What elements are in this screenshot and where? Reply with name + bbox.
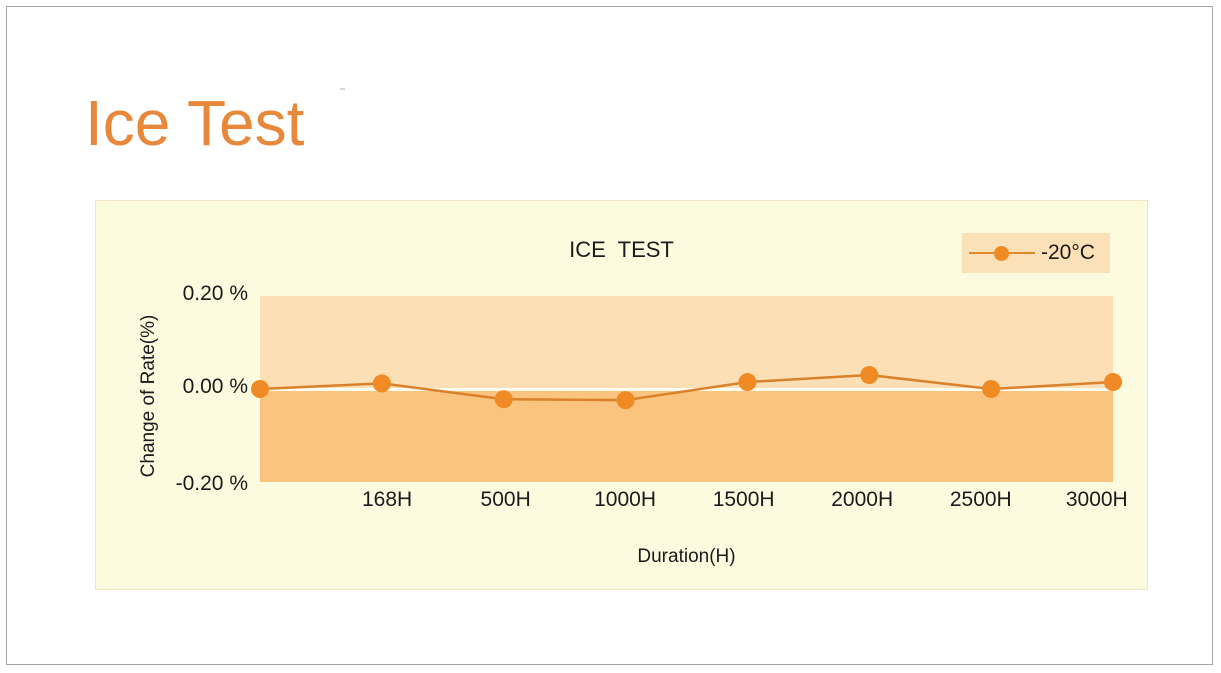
y-axis-title: Change of Rate(%) (138, 281, 160, 511)
x-axis-tick-168h: 168H (362, 488, 412, 512)
data-point (373, 374, 391, 392)
x-axis-title: Duration(H) (260, 546, 1113, 568)
x-axis-tick-2500h: 2500H (950, 488, 1012, 512)
legend-marker-icon (969, 243, 1035, 263)
data-point (617, 391, 635, 409)
x-axis-tick-1000h: 1000H (594, 488, 656, 512)
data-point (1104, 373, 1122, 391)
y-axis-tick-2: -0.20 % (176, 472, 248, 496)
y-axis-tick-1: 0.00 % (183, 375, 248, 399)
data-point (982, 380, 1000, 398)
slide: Ice Test ICE TEST -20°C Change of Rate(%… (6, 6, 1213, 665)
x-axis-tick-1500h: 1500H (713, 488, 775, 512)
decorative-speck (340, 88, 345, 90)
plot-area: 0.20 % 0.00 % -0.20 % 168H 500H 1000H 15… (260, 296, 1113, 482)
data-point (738, 373, 756, 391)
data-point (860, 366, 878, 384)
data-point (251, 380, 269, 398)
series-line--20c (260, 296, 1113, 482)
page-title: Ice Test (85, 85, 304, 161)
x-axis-tick-2000h: 2000H (831, 488, 893, 512)
x-axis-tick-500h: 500H (481, 488, 531, 512)
legend-label-series-0: -20°C (1041, 241, 1095, 265)
chart-panel: ICE TEST -20°C Change of Rate(%) 0.20 % … (95, 200, 1148, 590)
data-point (495, 390, 513, 408)
x-axis-tick-3000h: 3000H (1066, 488, 1128, 512)
chart-legend: -20°C (962, 233, 1110, 273)
y-axis-tick-0: 0.20 % (183, 282, 248, 306)
